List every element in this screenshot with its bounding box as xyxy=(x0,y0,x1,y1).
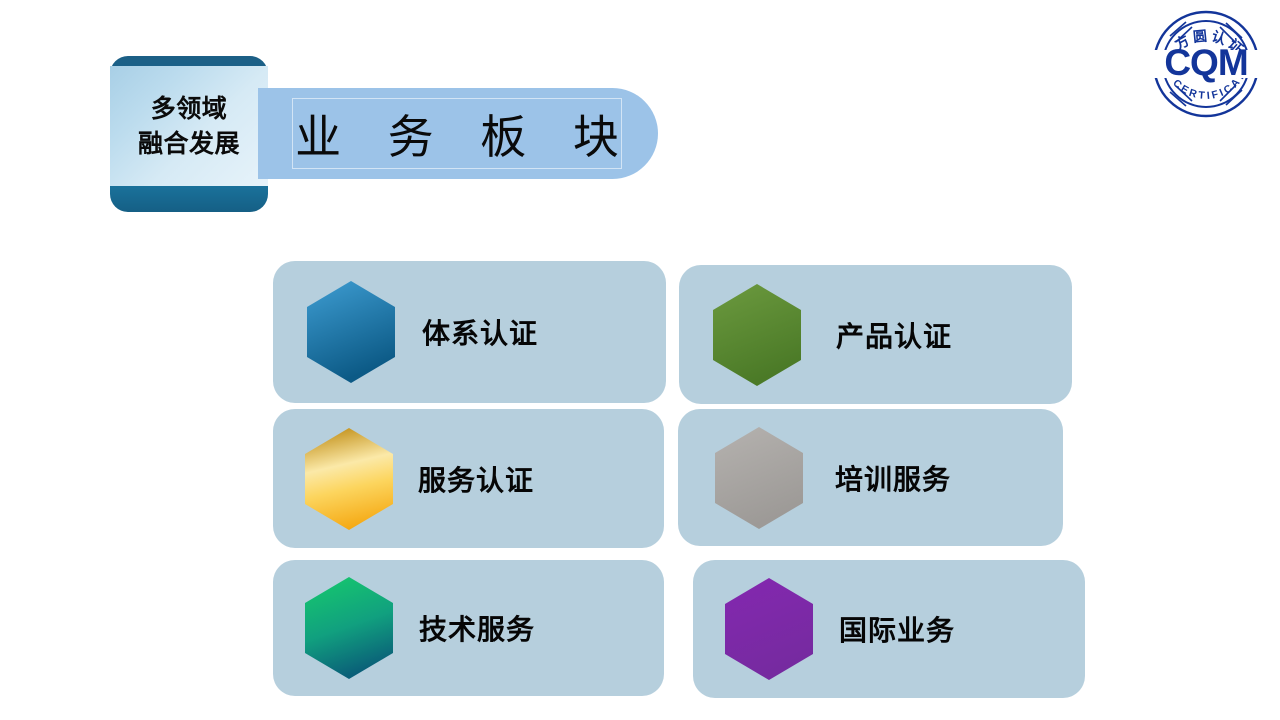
card-fuwu-renzheng[interactable]: 服务认证 xyxy=(273,409,664,548)
card-label: 产品认证 xyxy=(836,315,952,355)
title-inner-frame: 业 务 板 块 xyxy=(292,98,622,169)
header-badge: 多领域 融合发展 xyxy=(110,56,268,212)
hexagon-icon xyxy=(304,427,394,531)
card-tixi-renzheng[interactable]: 体系认证 xyxy=(273,261,666,403)
card-label: 体系认证 xyxy=(422,312,538,352)
hexagon-icon xyxy=(714,426,804,530)
title-pill: 业 务 板 块 xyxy=(258,88,658,179)
hexagon-icon xyxy=(712,283,802,387)
card-label: 服务认证 xyxy=(418,459,534,499)
svg-text:CQM: CQM xyxy=(1164,42,1247,83)
card-label: 培训服务 xyxy=(835,458,951,498)
card-jishu-fuwu[interactable]: 技术服务 xyxy=(273,560,664,696)
card-label: 技术服务 xyxy=(419,608,535,648)
card-label: 国际业务 xyxy=(839,609,955,649)
hexagon-icon xyxy=(306,280,396,384)
card-guoji-yewu[interactable]: 国际业务 xyxy=(693,560,1085,698)
badge-line-2: 融合发展 xyxy=(138,130,240,158)
hexagon-icon xyxy=(304,576,394,680)
card-peixun-fuwu[interactable]: 培训服务 xyxy=(678,409,1063,546)
slide-canvas: 多领域 融合发展 业 务 板 块 xyxy=(0,0,1280,720)
cqm-logo-svg: 方圆认证 CERTIFICATION CQM xyxy=(1146,6,1266,122)
badge-line-1: 多领域 xyxy=(151,95,228,123)
badge-face: 多领域 融合发展 xyxy=(110,66,268,186)
cqm-logo: 方圆认证 CERTIFICATION CQM xyxy=(1146,6,1266,122)
page-title: 业 务 板 块 xyxy=(279,101,635,167)
hexagon-icon xyxy=(724,577,814,681)
card-chanpin-renzheng[interactable]: 产品认证 xyxy=(679,265,1072,404)
